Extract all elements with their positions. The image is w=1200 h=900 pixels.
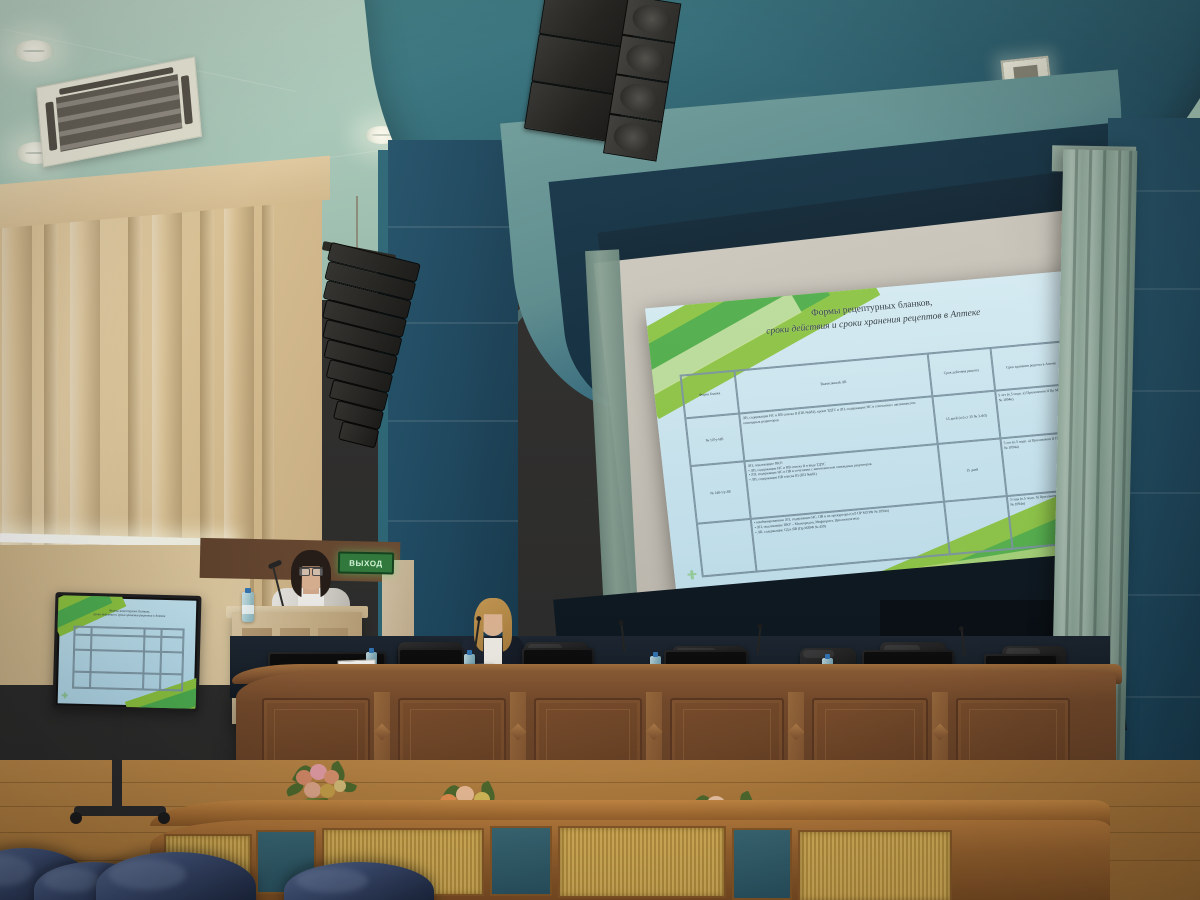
ceiling-ac-cassette <box>36 56 202 167</box>
line-array-speaker-center <box>523 0 681 156</box>
slide-table: Форма бланка Выписанный ЛП Срок действия… <box>679 340 1091 577</box>
monitor-stand-pole <box>112 706 122 814</box>
slide-cell-validity <box>944 496 1012 554</box>
green-cross-icon <box>687 570 697 580</box>
caster-wheel <box>158 812 170 824</box>
slide-th-form: Форма бланка <box>680 371 739 419</box>
slide-cell-validity: 15 дней <box>938 439 1006 502</box>
caster-wheel <box>70 812 82 824</box>
ceiling-spotlight <box>14 40 54 62</box>
teal-panel <box>490 826 552 896</box>
cane-panel <box>798 830 952 900</box>
green-cross-icon <box>62 692 68 698</box>
slide-th-validity: Срок действия рецепта <box>928 348 995 397</box>
teal-panel <box>732 828 792 900</box>
cane-panel <box>558 826 726 898</box>
slide-cell-form: № 107у-НП <box>685 414 745 467</box>
conference-hall-photo: Формы рецептурных бланков, сроки действи… <box>0 0 1200 900</box>
secondary-monitor[interactable]: Формы рецептурных бланков, сроки действи… <box>53 592 202 712</box>
exit-sign-label: ВЫХОД <box>349 558 383 568</box>
projection-screen[interactable]: Формы рецептурных бланков, сроки действи… <box>645 269 1117 595</box>
monitor-stand-base <box>74 806 166 816</box>
eyeglasses-icon <box>299 567 323 575</box>
slide-cell-form: № 148-1/у-88 <box>690 462 751 524</box>
slide-cell-form <box>696 519 756 576</box>
water-bottle <box>242 592 254 622</box>
slide-cell-validity: 15 дней (п.6 ст 25 № 3-ФЗ) <box>933 391 1000 444</box>
